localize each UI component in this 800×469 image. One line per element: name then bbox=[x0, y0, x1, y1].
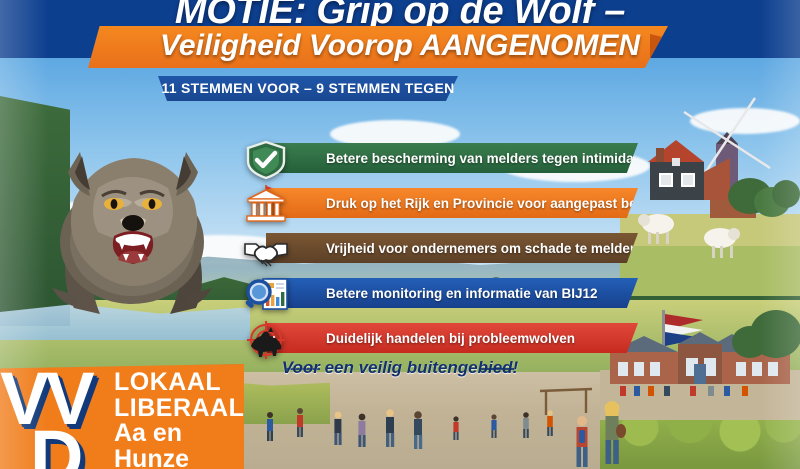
points-list: Betere bescherming van melders tegen int… bbox=[238, 138, 638, 363]
vote-result-text: 11 STEMMEN VOOR – 9 STEMMEN TEGEN bbox=[158, 80, 458, 96]
vvd-logo-block[interactable]: VV D LOKAAL LIBERAAL Aa en Hunze bbox=[0, 364, 244, 469]
point-label-1: Betere bescherming van melders tegen int… bbox=[266, 151, 649, 166]
vvd-wordmark: VV D bbox=[0, 370, 120, 469]
point-label-5: Duidelijk handelen bij probleemwolven bbox=[266, 331, 575, 346]
point-label-4: Betere monitoring en informatie van BIJ1… bbox=[266, 286, 598, 301]
list-item[interactable]: Vrijheid voor ondernemers om schade te m… bbox=[238, 228, 638, 271]
logo-tagline: LOKAAL LIBERAAL Aa en Hunze bbox=[114, 370, 244, 469]
list-item[interactable]: Druk op het Rijk en Provincie voor aange… bbox=[238, 183, 638, 226]
logo-line-2: LIBERAAL bbox=[114, 396, 244, 422]
tagline-dash-right bbox=[480, 368, 514, 370]
logo-line-3: Aa en Hunze bbox=[114, 421, 244, 469]
point-bar-4[interactable]: Betere monitoring en informatie van BIJ1… bbox=[266, 278, 638, 308]
logo-line-1: LOKAAL bbox=[114, 370, 244, 396]
point-bar-2[interactable]: Druk op het Rijk en Provincie voor aange… bbox=[266, 188, 638, 218]
handshake-icon bbox=[238, 228, 294, 271]
list-item[interactable]: Betere bescherming van melders tegen int… bbox=[238, 138, 638, 181]
point-bar-5[interactable]: Duidelijk handelen bij probleemwolven bbox=[266, 323, 638, 353]
government-building-icon bbox=[238, 183, 294, 226]
crowd-of-people bbox=[250, 385, 650, 469]
magnifier-chart-icon bbox=[238, 273, 294, 316]
point-label-3: Vrijheid voor ondernemers om schade te m… bbox=[266, 241, 638, 256]
poster: MOTIE: Grip op de Wolf – Veiligheid Voor… bbox=[0, 0, 800, 469]
point-bar-3[interactable]: Vrijheid voor ondernemers om schade te m… bbox=[266, 233, 638, 263]
wolf-illustration bbox=[28, 92, 260, 332]
point-bar-1[interactable]: Betere bescherming van melders tegen int… bbox=[266, 143, 638, 173]
wolf-target-icon bbox=[238, 318, 294, 361]
list-item[interactable]: Betere monitoring en informatie van BIJ1… bbox=[238, 273, 638, 316]
list-item[interactable]: Duidelijk handelen bij probleemwolven bbox=[238, 318, 638, 361]
vvd-mark-line2: D bbox=[30, 428, 120, 469]
point-label-2: Druk op het Rijk en Provincie voor aange… bbox=[266, 196, 660, 211]
page-title-line2: Veiligheid Voorop AANGENOMEN bbox=[0, 29, 800, 63]
shield-check-icon bbox=[238, 138, 294, 181]
farm-scene bbox=[620, 96, 800, 296]
